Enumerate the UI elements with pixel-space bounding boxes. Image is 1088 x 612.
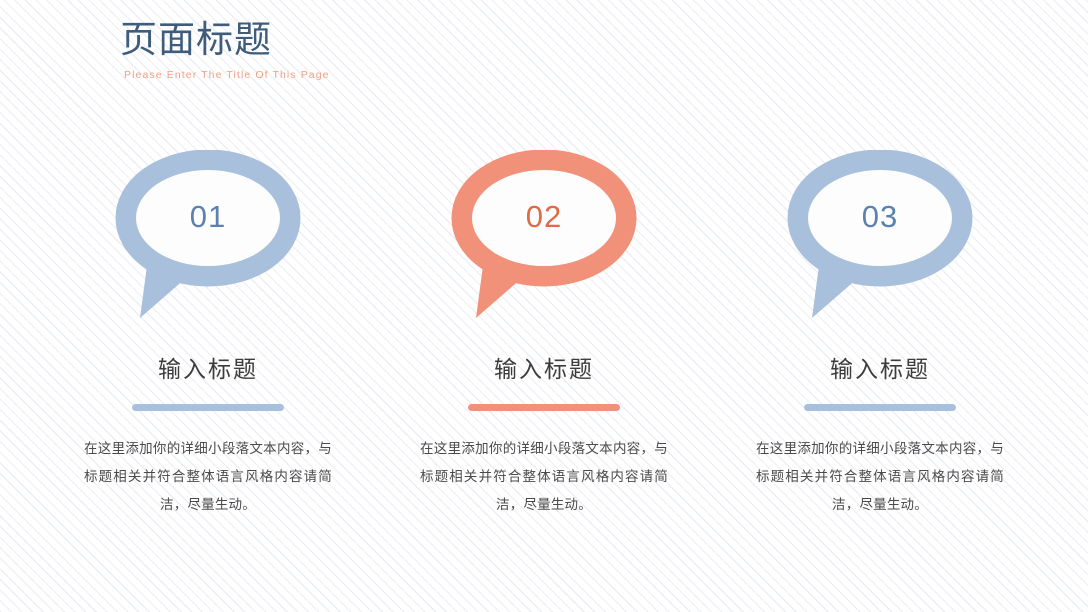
speech-bubble-icon	[780, 150, 980, 330]
page-subtitle: Please Enter The Title Of This Page	[124, 69, 580, 82]
content-column-2: 02 输入标题 在这里添加你的详细小段落文本内容，与标题相关并符合整体语言风格内…	[396, 150, 692, 519]
speech-bubble-icon	[444, 150, 644, 330]
speech-bubble-3[interactable]: 03	[780, 150, 980, 330]
column-heading-3: 输入标题	[830, 354, 930, 384]
column-heading-2: 输入标题	[494, 354, 594, 384]
column-divider-1	[132, 404, 284, 411]
content-columns: 01 输入标题 在这里添加你的详细小段落文本内容，与标题相关并符合整体语言风格内…	[0, 150, 1088, 519]
content-column-3: 03 输入标题 在这里添加你的详细小段落文本内容，与标题相关并符合整体语言风格内…	[732, 150, 1028, 519]
column-divider-2	[468, 404, 620, 411]
speech-bubble-icon	[108, 150, 308, 330]
column-body-3: 在这里添加你的详细小段落文本内容，与标题相关并符合整体语言风格内容请简洁，尽量生…	[756, 435, 1004, 519]
column-divider-3	[804, 404, 956, 411]
speech-bubble-2[interactable]: 02	[444, 150, 644, 330]
page-header: 页面标题 Please Enter The Title Of This Page	[120, 18, 580, 82]
column-heading-1: 输入标题	[158, 354, 258, 384]
column-body-2: 在这里添加你的详细小段落文本内容，与标题相关并符合整体语言风格内容请简洁，尽量生…	[420, 435, 668, 519]
speech-bubble-1[interactable]: 01	[108, 150, 308, 330]
column-body-1: 在这里添加你的详细小段落文本内容，与标题相关并符合整体语言风格内容请简洁，尽量生…	[84, 435, 332, 519]
page-title: 页面标题	[120, 18, 580, 62]
content-column-1: 01 输入标题 在这里添加你的详细小段落文本内容，与标题相关并符合整体语言风格内…	[60, 150, 356, 519]
